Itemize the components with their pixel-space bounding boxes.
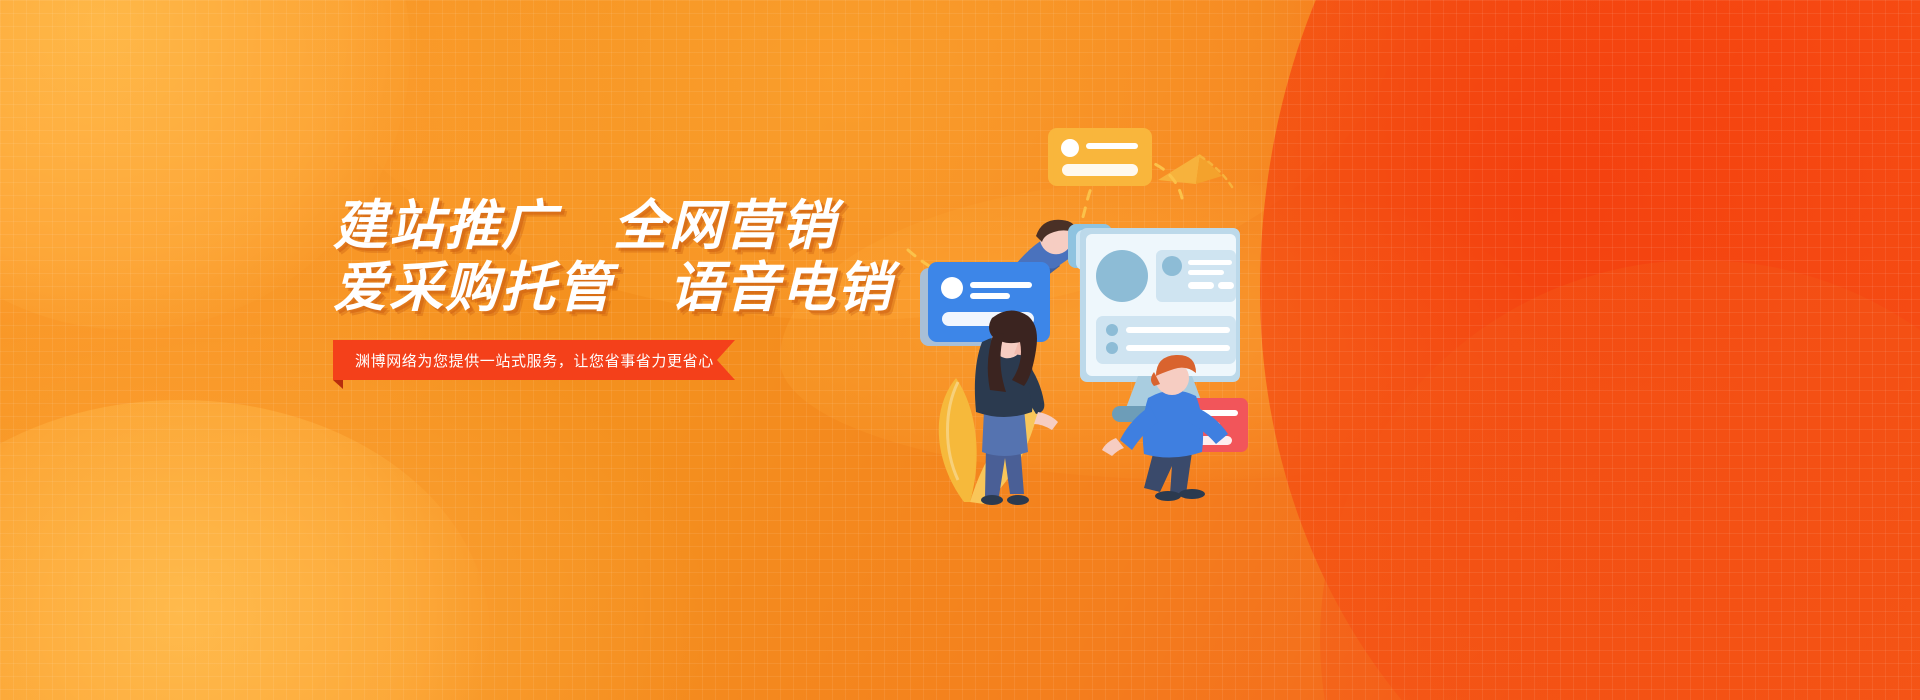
headline-line-2: 爱采购托管 语音电销: [333, 258, 893, 320]
headline-line-2-part-2: 语音电销: [669, 258, 893, 318]
tagline-ribbon: 渊博网络为您提供一站式服务，让您省事省力更省心: [333, 340, 735, 380]
illustration-svg: [900, 110, 1300, 510]
tagline-text: 渊博网络为您提供一站式服务，让您省事省力更省心: [355, 350, 714, 371]
headline-line-1-part-2: 全网营销: [613, 196, 837, 256]
promo-banner: 建站推广 全网营销 爱采购托管 语音电销 渊博网络为您提供一站式服务，让您省事省…: [0, 0, 1920, 700]
headline-line-2-part-1: 爱采购托管: [333, 258, 613, 318]
headline-block: 建站推广 全网营销 爱采购托管 语音电销: [333, 196, 893, 319]
background-blob-bottom-left: [0, 400, 490, 700]
headline-line-1: 建站推广 全网营销: [333, 196, 893, 258]
hero-illustration: [900, 110, 1300, 510]
yellow-card: [1048, 128, 1152, 186]
paper-plane-icon: [1158, 154, 1234, 190]
headline-line-1-part-1: 建站推广: [333, 196, 557, 256]
monitor-screen: [1068, 224, 1240, 422]
ribbon-fold-shadow: [333, 380, 343, 389]
